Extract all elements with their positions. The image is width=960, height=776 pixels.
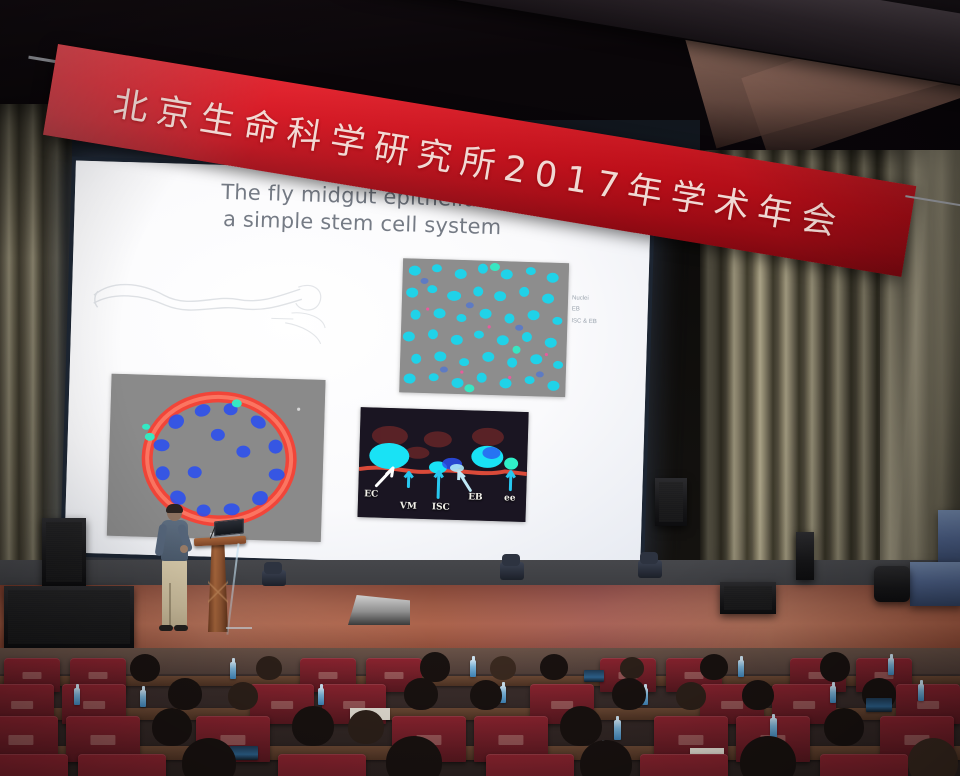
audience-member-head — [742, 680, 774, 710]
seat-number-plate — [88, 672, 107, 679]
stage-rear-speaker — [655, 478, 687, 526]
speaker-grill — [724, 586, 772, 610]
audience-member-head — [560, 706, 602, 746]
audience-member-head — [490, 656, 516, 680]
water-bottle — [888, 658, 894, 675]
podium-acrylic-base — [226, 627, 252, 629]
water-bottle — [770, 718, 777, 738]
moving-head-light-3 — [638, 560, 662, 578]
audience-member-head — [820, 652, 850, 682]
speaker-grill — [8, 590, 130, 644]
water-bottle — [230, 662, 236, 679]
moving-head-light-2 — [500, 562, 524, 580]
speaker-grill — [659, 482, 683, 522]
water-bottle — [830, 686, 836, 703]
seat-number-plate — [90, 735, 115, 744]
audience-member-head — [152, 708, 192, 746]
audience-seat[interactable] — [78, 754, 166, 776]
audience-seat[interactable] — [486, 754, 574, 776]
audience-laptop — [584, 670, 604, 682]
presenter-shoe-left — [159, 625, 173, 631]
stage-monitor-wedge — [348, 595, 410, 625]
section-label-eb: EB — [468, 492, 483, 502]
light-head-icon — [640, 552, 658, 564]
audience-member-head — [168, 678, 202, 710]
micrograph-nuclei — [399, 258, 569, 397]
audience-member-head — [824, 708, 864, 746]
light-head-icon — [502, 554, 520, 566]
seat-number-plate — [384, 672, 403, 679]
seat-number-plate — [271, 701, 293, 709]
audience-seat[interactable] — [820, 754, 908, 776]
micrograph-cross-section — [107, 374, 326, 542]
audience-seat[interactable] — [640, 754, 728, 776]
speaker-grill — [46, 522, 82, 582]
auditorium-photo: The fly midgut epithelium: a simple stem… — [0, 0, 960, 776]
presenter-hand — [180, 545, 188, 553]
section-label-ec: EC — [364, 489, 378, 499]
moving-head-light-1 — [262, 570, 286, 586]
water-bottle — [140, 690, 146, 707]
presenter-shoe-right — [174, 625, 188, 631]
slide-legend: Nuclei EB ISC & EB — [570, 293, 630, 357]
water-bottle — [470, 660, 476, 677]
projection-screen: The fly midgut epithelium: a simple stem… — [64, 161, 651, 570]
seat-number-plate — [498, 735, 523, 744]
water-bottle — [74, 688, 80, 705]
light-head-icon — [264, 562, 282, 574]
water-bottle — [614, 720, 621, 740]
seat-number-plate — [678, 735, 703, 744]
seat-number-plate — [22, 672, 41, 679]
presenter-laptop-screen — [214, 518, 244, 536]
audience-member-head — [470, 680, 502, 710]
stage-speaker-center-right — [720, 582, 776, 614]
audience-member-head — [348, 710, 384, 744]
stage-stand-post — [796, 532, 814, 580]
audience-member-head — [676, 682, 706, 710]
seat-number-plate — [8, 735, 33, 744]
seat-number-plate — [721, 701, 743, 709]
presenter — [157, 505, 191, 635]
audience-seat[interactable] — [278, 754, 366, 776]
audience-member-head — [620, 657, 644, 679]
podium-panel-detail — [208, 571, 228, 611]
audience-area — [0, 648, 960, 776]
seat-number-plate — [318, 672, 337, 679]
audience-member-head — [540, 654, 568, 680]
water-bottle — [318, 688, 324, 705]
audience-member-head — [292, 706, 334, 746]
water-bottle — [738, 660, 744, 677]
micrograph-labelled-section: EC VM ISC EB ee — [357, 407, 528, 522]
line-array-speaker-left — [42, 518, 86, 586]
audience-member-head — [612, 678, 646, 710]
water-bottle — [918, 684, 924, 701]
presenter-leg-split — [169, 583, 171, 627]
blue-speaker-bottom-right — [910, 562, 960, 606]
audience-member-head — [228, 682, 258, 710]
audience-laptop — [866, 698, 892, 712]
seat-number-plate — [793, 701, 815, 709]
presenter-hair — [166, 504, 183, 513]
seat-number-plate — [551, 701, 573, 709]
audience-member-head — [404, 678, 438, 710]
podium — [196, 531, 246, 631]
podium-acrylic-support — [226, 543, 239, 635]
subwoofer-speaker-left — [4, 586, 134, 648]
presenter-legs — [162, 559, 187, 627]
section-label-ee: ee — [504, 493, 516, 503]
section-label-vm: VM — [400, 501, 417, 511]
audience-member-head — [700, 654, 728, 680]
legend-line-1: Nuclei — [572, 293, 630, 306]
seat-number-plate — [83, 701, 105, 709]
seat-number-plate — [11, 701, 33, 709]
audience-member-head — [256, 656, 282, 680]
section-label-isc: ISC — [432, 502, 450, 513]
audience-member-head — [130, 654, 160, 682]
moving-head-light-right — [874, 566, 910, 602]
legend-line-3: ISC & EB — [571, 316, 629, 329]
seat-number-plate — [917, 701, 939, 709]
fly-gut-diagram-icon — [84, 261, 337, 363]
audience-seat[interactable] — [0, 754, 68, 776]
